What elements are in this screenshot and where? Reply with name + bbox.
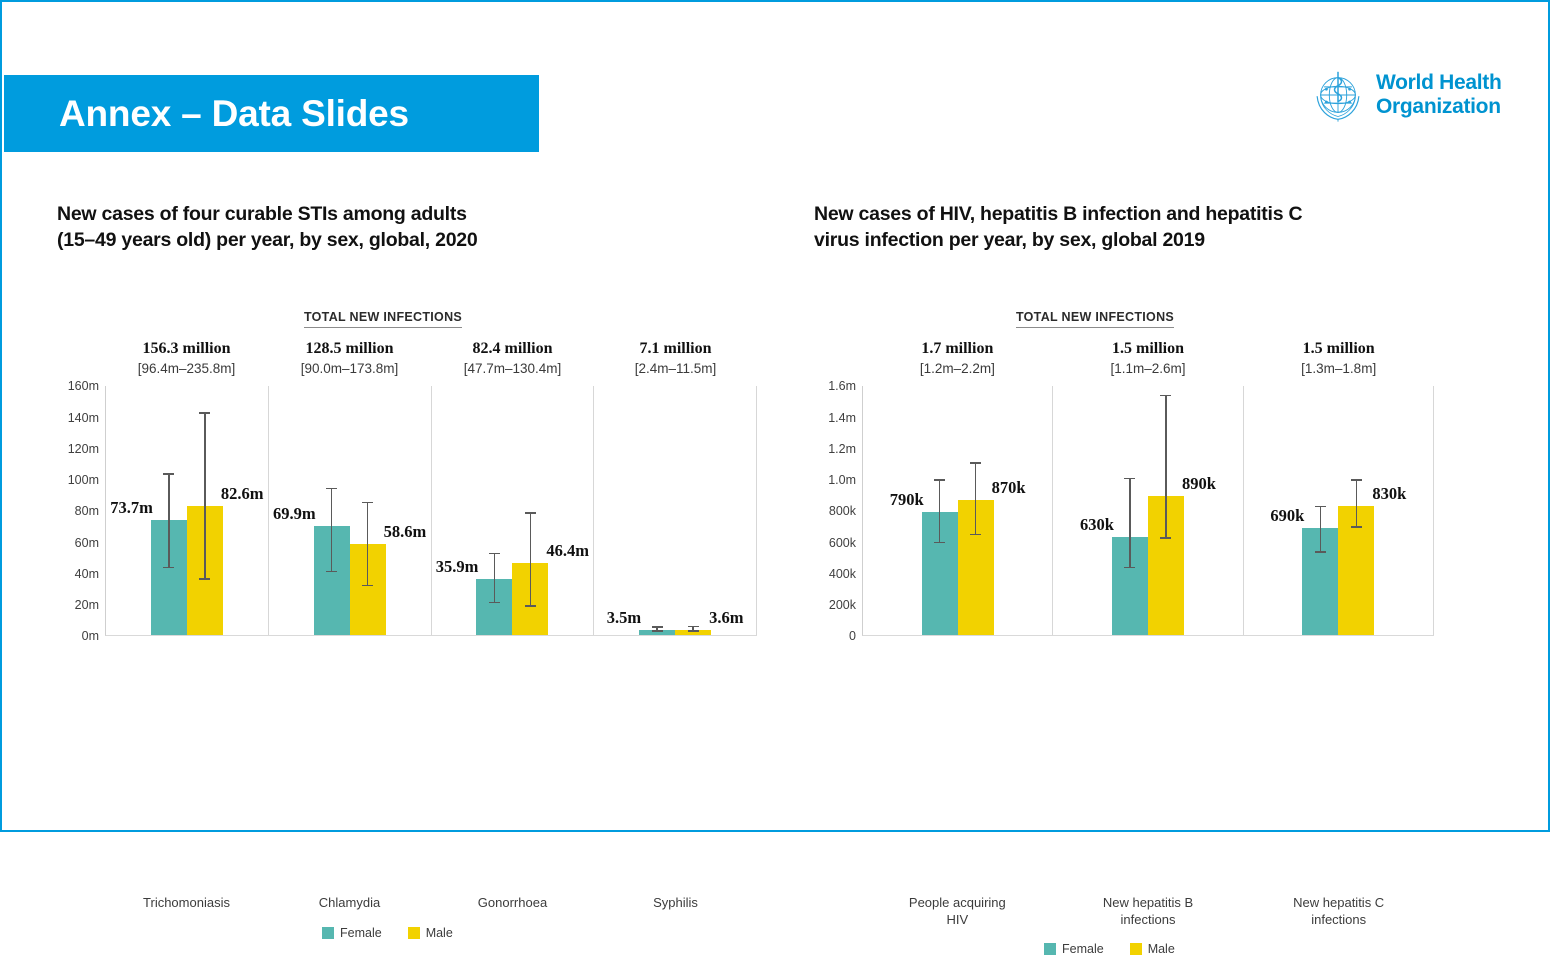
chart-bbv-y-axis: 0200k400k600k800k1.0m1.2m1.4m1.6m bbox=[814, 386, 862, 636]
bar-value-label: 46.4m bbox=[546, 541, 589, 561]
chart-panel: 690k830k bbox=[1244, 386, 1434, 635]
legend-label-female: Female bbox=[340, 926, 382, 940]
error-bar bbox=[494, 554, 496, 603]
bar-value-label: 82.6m bbox=[221, 484, 264, 504]
chart-sti-title: New cases of four curable STIs among adu… bbox=[57, 202, 757, 253]
total-value: 7.1 million bbox=[594, 340, 757, 358]
chart-bbv: New cases of HIV, hepatitis B infection … bbox=[814, 202, 1434, 956]
error-bar-cap-top bbox=[362, 502, 373, 504]
chart-panel: 69.9m58.6m bbox=[269, 386, 432, 635]
legend-swatch-female-icon bbox=[322, 927, 334, 939]
total-range: [1.1m–2.6m] bbox=[1053, 361, 1244, 376]
total-range: [47.7m–130.4m] bbox=[431, 361, 594, 376]
error-bar bbox=[939, 481, 941, 544]
who-wordmark-line2: Organization bbox=[1376, 95, 1501, 118]
error-bar-cap-bottom bbox=[688, 630, 699, 632]
bar-value-label: 870k bbox=[992, 478, 1026, 498]
total-value: 1.5 million bbox=[1243, 340, 1434, 358]
slide-title-band: Annex – Data Slides bbox=[4, 75, 539, 152]
error-bar-cap-bottom bbox=[1160, 537, 1171, 539]
x-axis-label: Gonorrhoea bbox=[431, 888, 594, 911]
error-bar-cap-top bbox=[970, 462, 981, 464]
chart-panel: 790k870k bbox=[863, 386, 1053, 635]
chart-bbv-x-labels: People acquiring HIVNew hepatitis B infe… bbox=[862, 888, 1434, 928]
total-range: [90.0m–173.8m] bbox=[268, 361, 431, 376]
chart-panel: 73.7m82.6m bbox=[106, 386, 269, 635]
bar-group: 69.9m58.6m bbox=[269, 386, 431, 635]
total-value: 1.5 million bbox=[1053, 340, 1244, 358]
total-range: [1.3m–1.8m] bbox=[1243, 361, 1434, 376]
x-axis-label: People acquiring HIV bbox=[862, 888, 1053, 928]
chart-bbv-legend: Female Male bbox=[1044, 942, 1434, 956]
page-title: Annex – Data Slides bbox=[59, 93, 409, 135]
total-range: [96.4m–235.8m] bbox=[105, 361, 268, 376]
chart-bbv-plot: 0200k400k600k800k1.0m1.2m1.4m1.6m 790k87… bbox=[814, 386, 1434, 636]
bar-value-label: 3.6m bbox=[709, 608, 743, 628]
legend-label-female: Female bbox=[1062, 942, 1104, 956]
legend-item-male[interactable]: Male bbox=[1130, 942, 1175, 956]
who-emblem-icon bbox=[1309, 66, 1367, 124]
error-bar-cap-top bbox=[1124, 478, 1135, 480]
error-bar-cap-bottom bbox=[1124, 567, 1135, 569]
total-range: [1.2m–2.2m] bbox=[862, 361, 1053, 376]
bar-female[interactable]: 630k bbox=[1112, 537, 1148, 635]
legend-item-female[interactable]: Female bbox=[1044, 942, 1104, 956]
bar-value-label: 690k bbox=[1270, 506, 1304, 526]
chart-sti-total-header: TOTAL NEW INFECTIONS bbox=[57, 308, 757, 328]
total-cell: 1.5 million[1.3m–1.8m] bbox=[1243, 340, 1434, 376]
total-cell: 1.5 million[1.1m–2.6m] bbox=[1053, 340, 1244, 376]
bar-male[interactable]: 890k bbox=[1148, 496, 1184, 635]
x-axis-label: New hepatitis B infections bbox=[1053, 888, 1244, 928]
error-bar bbox=[367, 503, 369, 586]
error-bar bbox=[1165, 396, 1167, 538]
bar-female[interactable]: 69.9m bbox=[314, 526, 350, 635]
y-axis-tick: 40m bbox=[75, 567, 99, 581]
error-bar-cap-top bbox=[163, 473, 174, 475]
error-bar bbox=[204, 414, 206, 580]
total-cell: 7.1 million[2.4m–11.5m] bbox=[594, 340, 757, 376]
y-axis-tick: 20m bbox=[75, 598, 99, 612]
total-new-infections-label: TOTAL NEW INFECTIONS bbox=[1016, 310, 1174, 328]
bar-value-label: 73.7m bbox=[110, 498, 153, 518]
total-cell: 82.4 million[47.7m–130.4m] bbox=[431, 340, 594, 376]
chart-bbv-panels: 790k870k630k890k690k830k bbox=[862, 386, 1434, 636]
bar-group: 790k870k bbox=[863, 386, 1052, 635]
chart-sti-legend: Female Male bbox=[322, 926, 757, 940]
y-axis-tick: 60m bbox=[75, 536, 99, 550]
error-bar-cap-top bbox=[489, 553, 500, 555]
total-cell: 156.3 million[96.4m–235.8m] bbox=[105, 340, 268, 376]
error-bar-cap-top bbox=[652, 626, 663, 628]
error-bar bbox=[530, 514, 532, 607]
y-axis-tick: 120m bbox=[68, 442, 99, 456]
error-bar-cap-bottom bbox=[1351, 526, 1362, 528]
legend-label-male: Male bbox=[1148, 942, 1175, 956]
bar-female[interactable]: 690k bbox=[1302, 528, 1338, 636]
bar-value-label: 35.9m bbox=[436, 557, 479, 577]
bar-value-label: 69.9m bbox=[273, 504, 316, 524]
bar-female[interactable]: 3.5m bbox=[639, 630, 675, 635]
chart-panel: 630k890k bbox=[1053, 386, 1243, 635]
legend-swatch-male-icon bbox=[1130, 943, 1142, 955]
error-bar-cap-bottom bbox=[199, 578, 210, 580]
bar-group: 3.5m3.6m bbox=[594, 386, 756, 635]
bar-group: 630k890k bbox=[1053, 386, 1242, 635]
legend-swatch-male-icon bbox=[408, 927, 420, 939]
y-axis-tick: 1.4m bbox=[828, 411, 856, 425]
error-bar-cap-bottom bbox=[362, 585, 373, 587]
chart-sti-x-labels: TrichomoniasisChlamydiaGonorrhoeaSyphili… bbox=[105, 888, 757, 911]
bar-male[interactable]: 46.4m bbox=[512, 563, 548, 636]
chart-sti: New cases of four curable STIs among adu… bbox=[57, 202, 757, 940]
chart-sti-totals: 156.3 million[96.4m–235.8m]128.5 million… bbox=[57, 340, 757, 376]
error-bar-cap-bottom bbox=[652, 630, 663, 632]
x-axis-label: Syphilis bbox=[594, 888, 757, 911]
bar-male[interactable]: 82.6m bbox=[187, 506, 223, 635]
bar-value-label: 3.5m bbox=[607, 608, 641, 628]
slide-canvas: Annex – Data Slides bbox=[0, 0, 1550, 832]
chart-bbv-total-header: TOTAL NEW INFECTIONS bbox=[814, 308, 1434, 328]
y-axis-tick: 1.0m bbox=[828, 473, 856, 487]
y-axis-tick: 800k bbox=[829, 504, 856, 518]
error-bar bbox=[168, 475, 170, 569]
bar-value-label: 890k bbox=[1182, 474, 1216, 494]
y-axis-tick: 160m bbox=[68, 379, 99, 393]
legend-item-female[interactable]: Female bbox=[322, 926, 382, 940]
error-bar-cap-bottom bbox=[525, 605, 536, 607]
who-logo: World Health Organization bbox=[1309, 64, 1504, 126]
error-bar-cap-top bbox=[326, 488, 337, 490]
bar-value-label: 790k bbox=[890, 490, 924, 510]
chart-sti-panels: 73.7m82.6m69.9m58.6m35.9m46.4m3.5m3.6m bbox=[105, 386, 757, 636]
x-axis-label: Trichomoniasis bbox=[105, 888, 268, 911]
legend-item-male[interactable]: Male bbox=[408, 926, 453, 940]
error-bar bbox=[1129, 479, 1131, 568]
legend-label-male: Male bbox=[426, 926, 453, 940]
total-cell: 1.7 million[1.2m–2.2m] bbox=[862, 340, 1053, 376]
bar-group: 35.9m46.4m bbox=[432, 386, 594, 635]
who-wordmark-line1: World Health bbox=[1376, 71, 1502, 94]
total-new-infections-label: TOTAL NEW INFECTIONS bbox=[304, 310, 462, 328]
chart-bbv-totals: 1.7 million[1.2m–2.2m]1.5 million[1.1m–2… bbox=[814, 340, 1434, 376]
error-bar bbox=[975, 464, 977, 536]
error-bar-cap-top bbox=[688, 626, 699, 628]
bar-male[interactable]: 58.6m bbox=[350, 544, 386, 636]
bar-male[interactable]: 870k bbox=[958, 500, 994, 636]
bar-group: 73.7m82.6m bbox=[106, 386, 268, 635]
y-axis-tick: 100m bbox=[68, 473, 99, 487]
chart-panel: 35.9m46.4m bbox=[432, 386, 595, 635]
total-value: 82.4 million bbox=[431, 340, 594, 358]
y-axis-tick: 1.6m bbox=[828, 379, 856, 393]
chart-sti-plot: 0m20m40m60m80m100m120m140m160m 73.7m82.6… bbox=[57, 386, 757, 636]
bar-female[interactable]: 35.9m bbox=[476, 579, 512, 635]
bar-female[interactable]: 790k bbox=[922, 512, 958, 635]
error-bar-cap-top bbox=[934, 479, 945, 481]
total-value: 156.3 million bbox=[105, 340, 268, 358]
error-bar-cap-bottom bbox=[326, 571, 337, 573]
bar-value-label: 630k bbox=[1080, 515, 1114, 535]
error-bar-cap-top bbox=[1315, 506, 1326, 508]
who-wordmark: World Health Organization bbox=[1376, 71, 1502, 118]
y-axis-tick: 200k bbox=[829, 598, 856, 612]
error-bar-cap-top bbox=[199, 412, 210, 414]
x-axis-label: Chlamydia bbox=[268, 888, 431, 911]
bar-value-label: 58.6m bbox=[384, 522, 427, 542]
error-bar bbox=[1356, 481, 1358, 528]
total-range: [2.4m–11.5m] bbox=[594, 361, 757, 376]
bar-male[interactable]: 3.6m bbox=[675, 630, 711, 636]
total-value: 1.7 million bbox=[862, 340, 1053, 358]
error-bar-cap-bottom bbox=[934, 542, 945, 544]
chart-panel: 3.5m3.6m bbox=[594, 386, 757, 635]
error-bar bbox=[1320, 507, 1322, 552]
chart-bbv-title: New cases of HIV, hepatitis B infection … bbox=[814, 202, 1434, 253]
chart-sti-y-axis: 0m20m40m60m80m100m120m140m160m bbox=[57, 386, 105, 636]
y-axis-tick: 80m bbox=[75, 504, 99, 518]
error-bar-cap-bottom bbox=[489, 602, 500, 604]
bar-value-label: 830k bbox=[1372, 484, 1406, 504]
bar-male[interactable]: 830k bbox=[1338, 506, 1374, 636]
total-cell: 128.5 million[90.0m–173.8m] bbox=[268, 340, 431, 376]
y-axis-tick: 400k bbox=[829, 567, 856, 581]
y-axis-tick: 140m bbox=[68, 411, 99, 425]
error-bar-cap-top bbox=[525, 512, 536, 514]
error-bar-cap-bottom bbox=[970, 534, 981, 536]
y-axis-tick: 0m bbox=[82, 629, 99, 643]
error-bar bbox=[331, 489, 333, 572]
bar-female[interactable]: 73.7m bbox=[151, 520, 187, 635]
bar-group: 690k830k bbox=[1244, 386, 1433, 635]
y-axis-tick: 600k bbox=[829, 536, 856, 550]
error-bar-cap-top bbox=[1351, 479, 1362, 481]
total-value: 128.5 million bbox=[268, 340, 431, 358]
legend-swatch-female-icon bbox=[1044, 943, 1056, 955]
error-bar-cap-bottom bbox=[1315, 551, 1326, 553]
error-bar-cap-bottom bbox=[163, 567, 174, 569]
y-axis-tick: 0 bbox=[849, 629, 856, 643]
y-axis-tick: 1.2m bbox=[828, 442, 856, 456]
error-bar-cap-top bbox=[1160, 395, 1171, 397]
x-axis-label: New hepatitis C infections bbox=[1243, 888, 1434, 928]
